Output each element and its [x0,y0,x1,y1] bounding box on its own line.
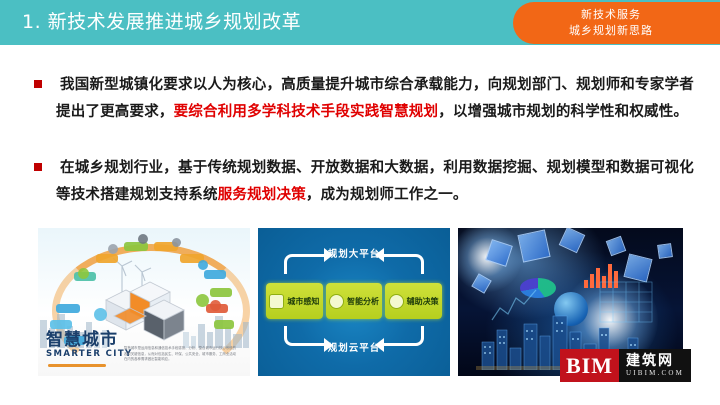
bullet-text-2: 在城乡规划行业，基于传统规划数据、开放数据和大数据，利用数据挖掘、规划模型和数据… [34,155,694,208]
slide-canvas: 1. 新技术发展推进城乡规划改革 新技术服务 城乡规划新思路 我国新型城镇化要求… [0,0,720,405]
node-dot [108,244,118,254]
image-planning-platform: 规划大平台 城市感知 智能分析 [258,228,450,376]
bullet-item-2: 在城乡规划行业，基于传统规划数据、开放数据和大数据，利用数据挖掘、规划模型和数据… [34,155,694,208]
chip-smart-tag [210,288,232,297]
chip-smart-tag [56,304,80,313]
watermark-domain: UIBIM.COM [626,369,684,378]
gear-icon [389,294,404,309]
watermark-brand: BIM [560,349,619,382]
node-dot [198,260,208,270]
platform-box-row: 城市感知 智能分析 辅助决策 [266,283,442,319]
node-dot [172,238,181,247]
platform-box-decision: 辅助决策 [385,283,442,319]
chip-smart-tag [50,320,72,329]
arrow-head-icon [375,248,384,262]
platform-box-perception: 城市感知 [266,283,323,319]
bullet-square-icon [34,80,42,88]
image-smarter-city: 智慧城市 SMARTER CITY 智慧城市是运用信息和通信技术手段感测、分析、… [38,228,250,376]
floating-cube [517,229,550,262]
bullet-text-1: 我国新型城镇化要求以人为核心，高质量提升城市综合承载能力，向规划部门、规划师和专… [34,72,694,125]
node-dot [210,300,221,311]
title-underline [48,364,106,367]
watermark-name-block: 建筑网 UIBIM.COM [619,349,691,382]
node-dot [78,268,89,279]
content-area: 我国新型城镇化要求以人为核心，高质量提升城市综合承载能力，向规划部门、规划师和专… [0,45,720,225]
flow-arrow-top-right [380,254,424,274]
bullet-item-1: 我国新型城镇化要求以人为核心，高质量提升城市综合承载能力，向规划部门、规划师和专… [34,72,694,125]
watermark-logo: BIM 建筑网 UIBIM.COM [560,349,691,382]
smarter-city-title-block: 智慧城市 SMARTER CITY [46,331,133,360]
floating-cube [606,236,627,257]
flow-arrow-top-left [284,254,328,274]
node-dot [138,234,148,244]
chip-smart-tag [214,320,234,329]
smarter-city-artwork: 智慧城市 SMARTER CITY 智慧城市是运用信息和通信技术手段感测、分析、… [38,228,250,376]
document-icon [269,294,284,309]
header-badge: 新技术服务 城乡规划新思路 [513,2,720,44]
platform-bottom-label: 规划云平台 [258,340,450,354]
floating-cube [657,243,673,259]
platform-box-analysis: 智能分析 [326,283,383,319]
bullet-1-highlight: 要综合利用多学科技术手段实践智慧规划 [174,104,439,120]
platform-box-label: 辅助决策 [407,296,439,307]
smarter-city-caption: 智慧城市是运用信息和通信技术手段感测、分析、整合城市运行核心系统的各项关键信息，… [124,346,236,362]
node-dot [94,308,107,321]
platform-box-label: 城市感知 [287,296,319,307]
analysis-icon [329,294,344,309]
bullet-1-text-after: ，以增强城市规划的科学性和权威性。 [438,104,688,120]
planning-platform-artwork: 规划大平台 城市感知 智能分析 [258,228,450,376]
floating-cube [559,228,586,253]
page-title: 1. 新技术发展推进城乡规划改革 [22,8,301,36]
chip-smart-tag [204,270,226,279]
watermark-name-cn: 建筑网 [626,354,684,369]
smarter-city-title-en: SMARTER CITY [46,349,133,360]
bullet-square-icon [34,163,42,171]
header-badge-line-1: 新技术服务 [513,7,720,23]
header-badge-line-2: 城乡规划新思路 [513,23,720,39]
smarter-city-title-cn: 智慧城市 [46,331,133,349]
node-dot [196,294,209,307]
chip-smart-tag [96,254,118,263]
platform-box-label: 智能分析 [347,296,379,307]
arrow-head-icon [324,248,333,262]
bullet-2-highlight: 服务规划决策 [218,187,306,203]
bullet-2-text-after: ，成为规划师工作之一。 [306,187,468,203]
